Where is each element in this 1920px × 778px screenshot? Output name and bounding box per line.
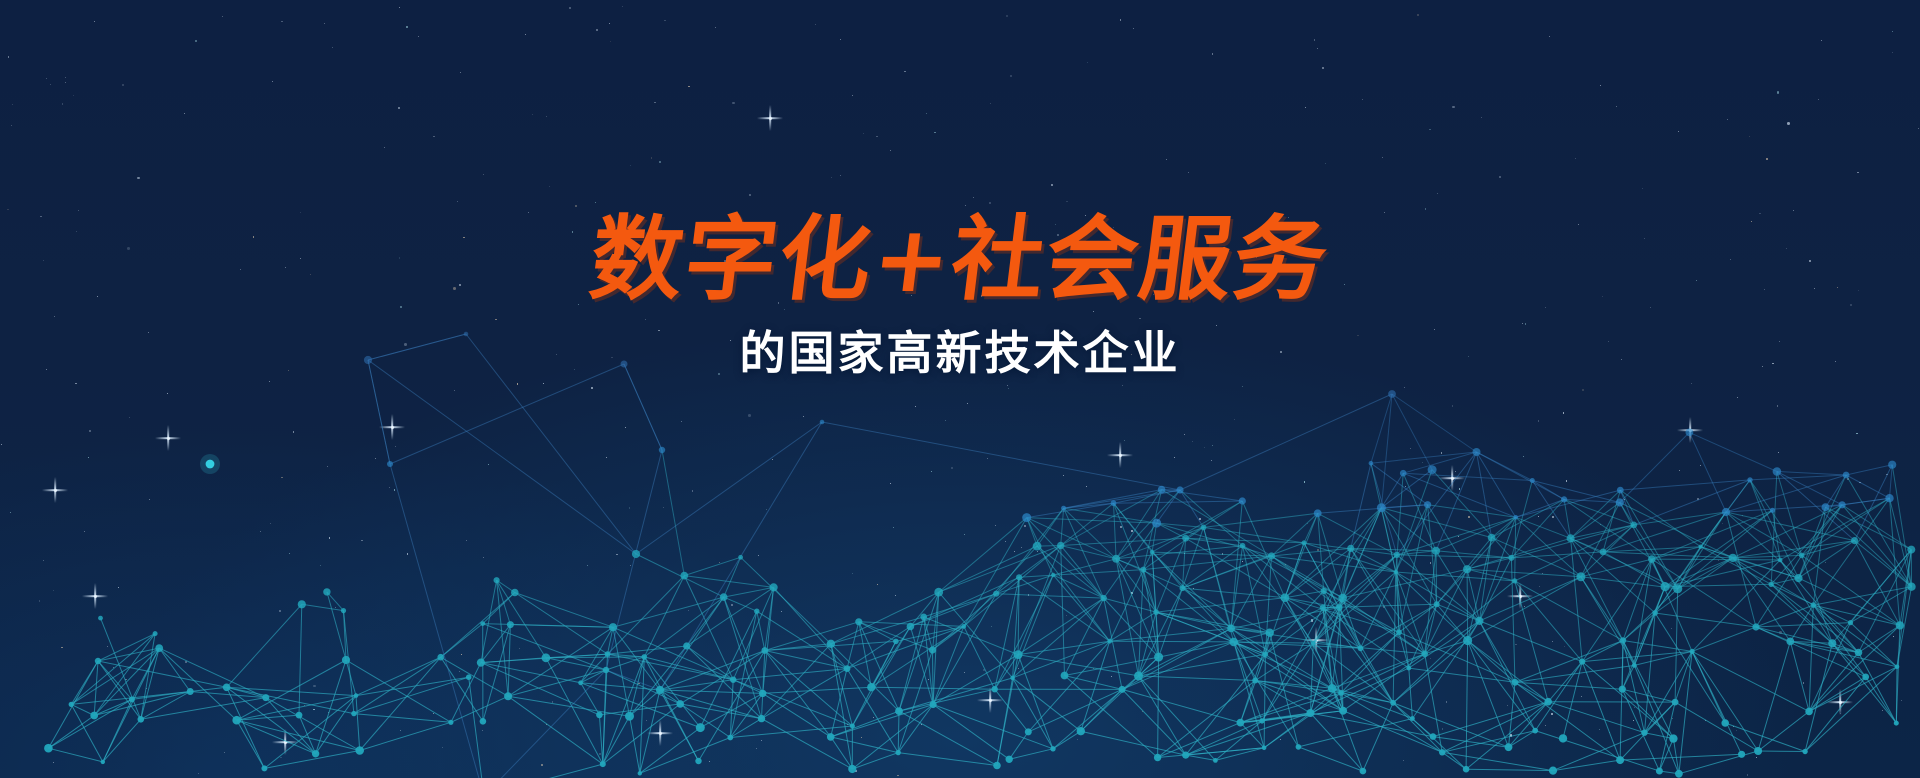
network-mesh-graphic xyxy=(0,318,1920,778)
page-title: 数字化+社会服务 xyxy=(586,214,1334,306)
hero-banner: 数字化+社会服务 的国家高新技术企业 xyxy=(0,0,1920,778)
hero-text-block: 数字化+社会服务 的国家高新技术企业 xyxy=(0,214,1920,379)
page-subtitle: 的国家高新技术企业 xyxy=(0,328,1920,379)
